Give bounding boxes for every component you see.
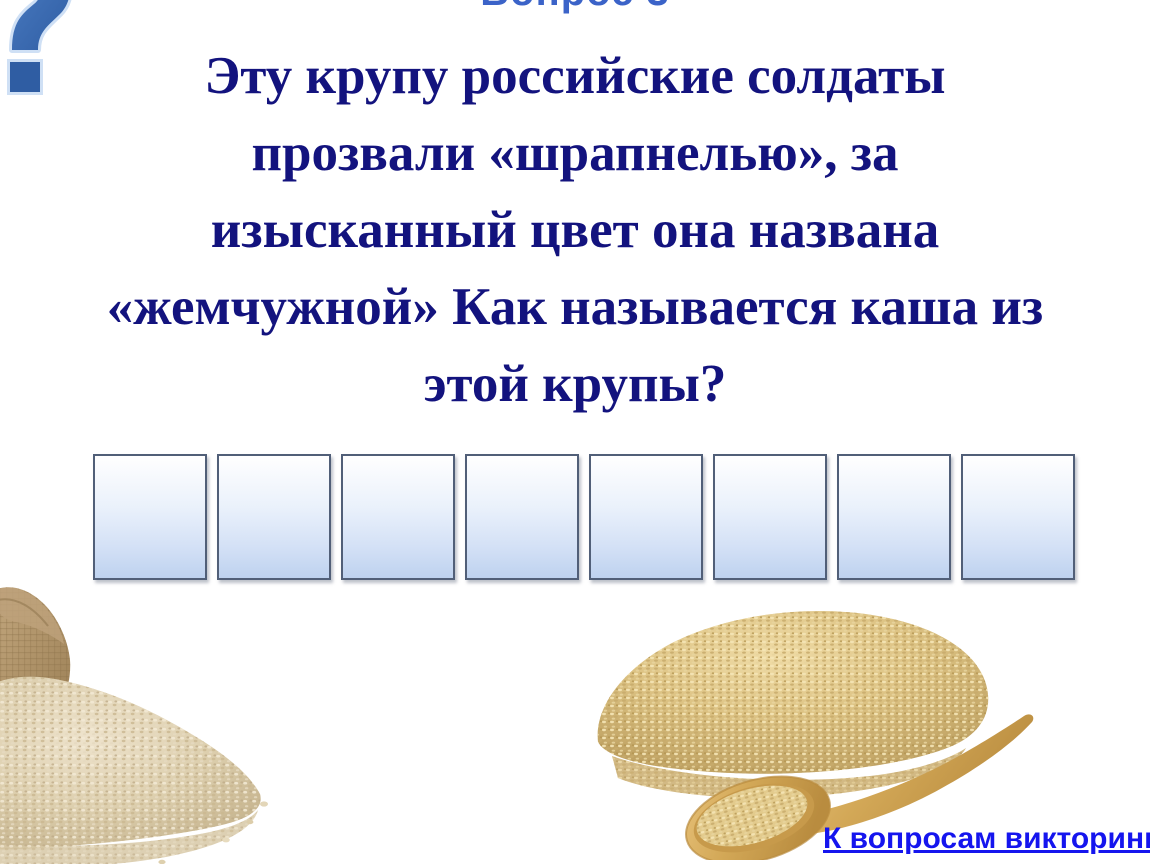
answer-box[interactable] bbox=[713, 454, 827, 580]
question-line-3: изысканный цвет она названа bbox=[0, 192, 1150, 269]
quiz-questions-link-label[interactable]: К вопросам викторины bbox=[823, 822, 1150, 855]
answer-box[interactable] bbox=[341, 454, 455, 580]
question-line-5: этой крупы? bbox=[0, 346, 1150, 423]
slide-header: Вопрос 3 bbox=[0, 0, 1150, 14]
slide-canvas: Вопрос 3 Эту крупу российские солдаты пр… bbox=[0, 0, 1150, 864]
header-title: Вопрос 3 bbox=[0, 0, 1150, 14]
question-line-1: Эту крупу российские солдаты bbox=[0, 38, 1150, 115]
barley-pile-spoon-image bbox=[578, 592, 1048, 860]
answer-box[interactable] bbox=[961, 454, 1075, 580]
answer-box[interactable] bbox=[589, 454, 703, 580]
question-text: Эту крупу российские солдаты прозвали «ш… bbox=[0, 38, 1150, 423]
answer-box[interactable] bbox=[837, 454, 951, 580]
question-line-2: прозвали «шрапнелью», за bbox=[0, 115, 1150, 192]
question-line-4: «жемчужной» Как называется каша из bbox=[0, 269, 1150, 346]
answer-box[interactable] bbox=[465, 454, 579, 580]
burlap-sack-pearl-barley-image bbox=[0, 556, 336, 864]
quiz-questions-link[interactable]: К вопросам викторины bbox=[823, 822, 1150, 862]
